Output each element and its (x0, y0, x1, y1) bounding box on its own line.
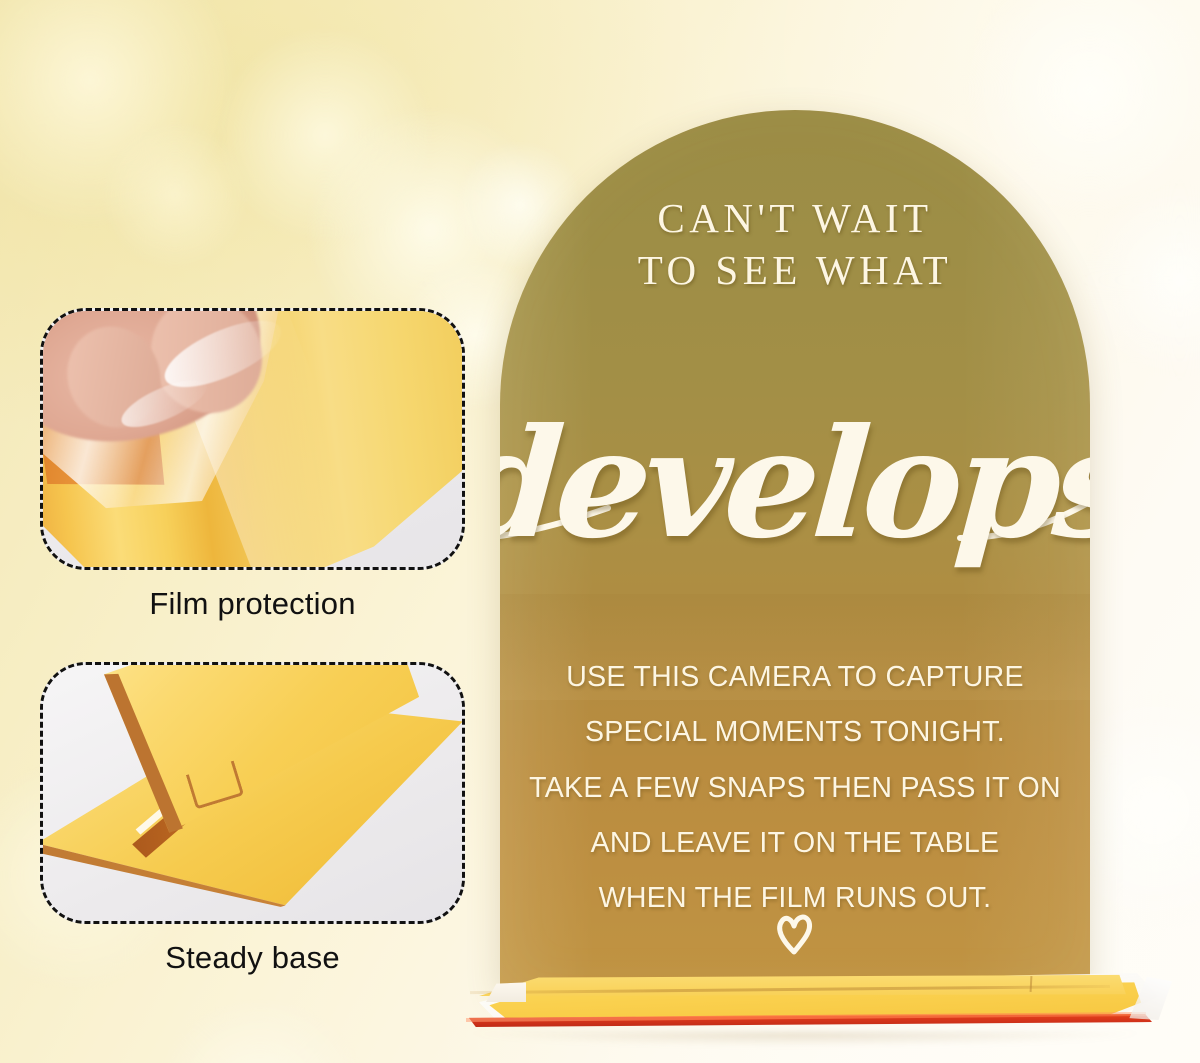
stand-shadow (470, 1032, 1140, 1046)
body-line-4: AND LEAVE IT ON THE TABLE (508, 816, 1082, 871)
script-word-zone: develops (500, 388, 1090, 638)
stand-left-notch (486, 982, 526, 1002)
headline-line-2: TO SEE WHAT (500, 244, 1090, 296)
feature-card-film-protection: Film protection (40, 308, 465, 638)
acrylic-stand-base (440, 960, 1180, 1063)
arch-panel: CAN'T WAIT TO SEE WHAT develops USE THIS… (500, 110, 1090, 990)
feature-caption: Steady base (40, 940, 465, 976)
heart-outline-icon (500, 910, 1090, 965)
feature-caption: Film protection (40, 586, 465, 622)
body-line-1: USE THIS CAMERA TO CAPTURE (508, 650, 1082, 705)
body-line-3: TAKE A FEW SNAPS THEN PASS IT ON (508, 761, 1082, 816)
body-line-2: SPECIAL MOMENTS TONIGHT. (508, 705, 1082, 760)
feature-card-steady-base: Steady base (40, 662, 465, 992)
headline-line-1: CAN'T WAIT (500, 192, 1090, 244)
headline: CAN'T WAIT TO SEE WHAT (500, 192, 1090, 297)
script-word: develops (500, 396, 1090, 572)
body-copy: USE THIS CAMERA TO CAPTURE SPECIAL MOMEN… (508, 650, 1082, 926)
peeling-protective-film-photo (40, 308, 465, 570)
feature-list: Film protection Steady base (0, 0, 500, 1063)
slotted-base-photo (40, 662, 465, 924)
